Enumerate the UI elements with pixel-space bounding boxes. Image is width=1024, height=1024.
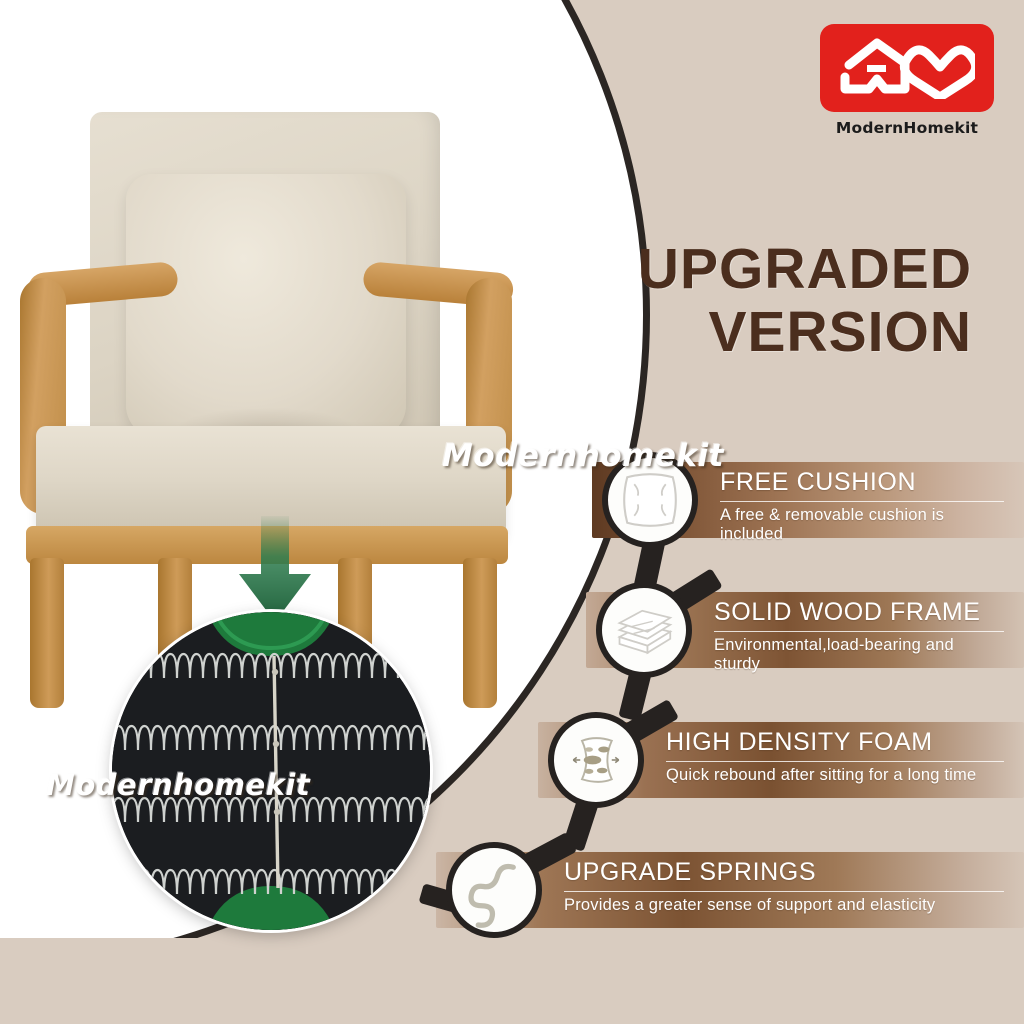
chair-leg (30, 558, 64, 708)
feature-title: FREE CUSHION (720, 468, 1004, 498)
feature-row-high-density-foam: HIGH DENSITY FOAM Quick rebound after si… (538, 722, 1024, 798)
feature-text: FREE CUSHION A free & removable cushion … (720, 468, 1004, 544)
feature-subtitle: Provides a greater sense of support and … (564, 896, 1004, 915)
background-bottom-strip (0, 938, 1024, 1024)
feature-divider (564, 891, 1004, 892)
infographic-canvas: Modernhomekit Modernhomekit ModernHomeki… (0, 0, 1024, 1024)
feature-subtitle: Environmental,load-bearing and sturdy (714, 636, 1004, 674)
feature-row-solid-wood-frame: SOLID WOOD FRAME Environmental,load-bear… (586, 592, 1024, 668)
house-heart-logo-icon (839, 37, 975, 99)
down-arrow-icon (232, 516, 318, 622)
feature-text: UPGRADE SPRINGS Provides a greater sense… (564, 858, 1004, 915)
feature-row-upgrade-springs: UPGRADE SPRINGS Provides a greater sense… (436, 852, 1024, 928)
feature-subtitle: Quick rebound after sitting for a long t… (666, 766, 1004, 785)
feature-divider (720, 501, 1004, 502)
watermark-brand: Modernhomekit (442, 438, 724, 474)
feature-title: SOLID WOOD FRAME (714, 598, 1004, 628)
feature-divider (666, 761, 1004, 762)
page-title-line1: UPGRADED (638, 238, 972, 301)
feature-title: UPGRADE SPRINGS (564, 858, 1004, 888)
feature-text: SOLID WOOD FRAME Environmental,load-bear… (714, 598, 1004, 674)
chair-throw-pillow (126, 174, 406, 439)
feature-title: HIGH DENSITY FOAM (666, 728, 1004, 758)
chair-leg (463, 558, 497, 708)
logo-badge (820, 24, 994, 112)
serpentine-spring-icon (446, 842, 542, 938)
foam-block-icon (548, 712, 644, 808)
watermark-brand: Modernhomekit (46, 768, 310, 802)
feature-text: HIGH DENSITY FOAM Quick rebound after si… (666, 728, 1004, 785)
page-title: UPGRADED VERSION (638, 238, 972, 363)
brand-logo: ModernHomekit (812, 24, 1002, 137)
feature-subtitle: A free & removable cushion is included (720, 506, 1004, 544)
wood-planks-icon (596, 582, 692, 678)
page-title-line2: VERSION (638, 301, 972, 364)
feature-divider (714, 631, 1004, 632)
logo-brand-name: ModernHomekit (812, 119, 1002, 137)
